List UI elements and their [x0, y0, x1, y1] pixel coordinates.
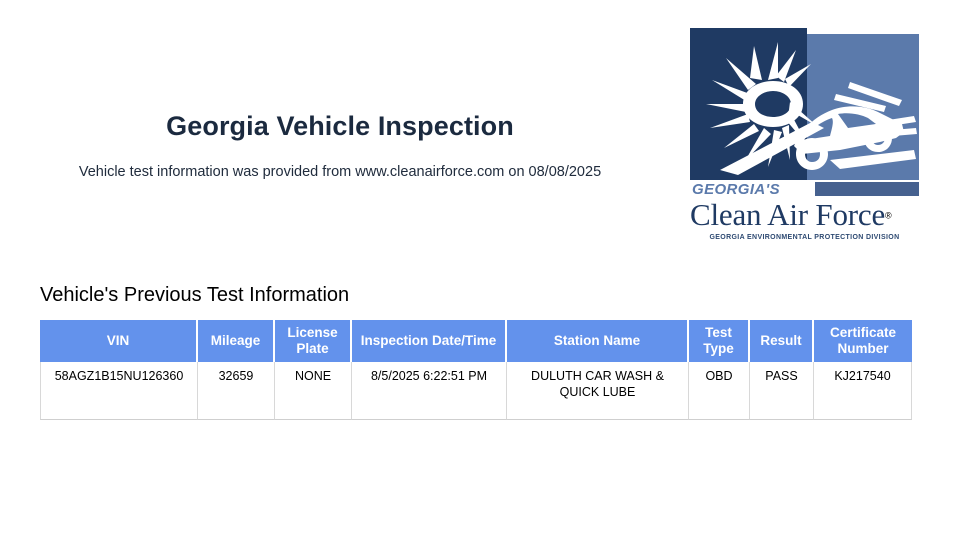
cell-vin: 58AGZ1B15NU126360	[40, 362, 198, 420]
logo-graphic	[690, 28, 919, 180]
cell-result: PASS	[750, 362, 814, 420]
title-block: Georgia Vehicle Inspection Vehicle test …	[0, 112, 680, 181]
previous-test-information-table: VIN Mileage License Plate Inspection Dat…	[40, 320, 912, 420]
page-subtitle: Vehicle test information was provided fr…	[0, 142, 680, 181]
section-heading: Vehicle's Previous Test Information	[40, 283, 349, 307]
logo-georgias-bar	[815, 182, 919, 196]
sun-and-car-icon	[690, 28, 919, 180]
column-header-license-plate: License Plate	[275, 320, 352, 362]
cell-mileage: 32659	[198, 362, 275, 420]
column-header-station-name: Station Name	[507, 320, 689, 362]
logo-georgias-label: GEORGIA'S	[692, 181, 780, 198]
column-header-test-type: Test Type	[689, 320, 750, 362]
cell-test-type: OBD	[689, 362, 750, 420]
logo-wordmark-text: Clean Air Force	[690, 197, 885, 232]
registered-trademark-icon: ®	[885, 211, 892, 221]
column-header-result: Result	[750, 320, 814, 362]
vehicle-inspection-document: { "document": { "title": "Georgia Vehicl…	[0, 0, 964, 542]
cell-license-plate: NONE	[275, 362, 352, 420]
column-header-inspection-datetime: Inspection Date/Time	[352, 320, 507, 362]
clean-air-force-logo: GEORGIA'S Clean Air Force® GEORGIA ENVIR…	[688, 28, 928, 240]
column-header-vin: VIN	[40, 320, 198, 362]
table-row: 58AGZ1B15NU126360 32659 NONE 8/5/2025 6:…	[40, 362, 912, 420]
column-header-mileage: Mileage	[198, 320, 275, 362]
cell-station-name: DULUTH CAR WASH & QUICK LUBE	[507, 362, 689, 420]
page-title: Georgia Vehicle Inspection	[0, 112, 680, 142]
logo-wordmark: Clean Air Force®	[690, 198, 919, 230]
table-header-row: VIN Mileage License Plate Inspection Dat…	[40, 320, 912, 362]
cell-inspection-datetime: 8/5/2025 6:22:51 PM	[352, 362, 507, 420]
cell-certificate-number: KJ217540	[814, 362, 912, 420]
logo-georgias-band: GEORGIA'S	[690, 181, 919, 198]
document-header: Georgia Vehicle Inspection Vehicle test …	[0, 0, 964, 250]
column-header-certificate-number: Certificate Number	[814, 320, 912, 362]
